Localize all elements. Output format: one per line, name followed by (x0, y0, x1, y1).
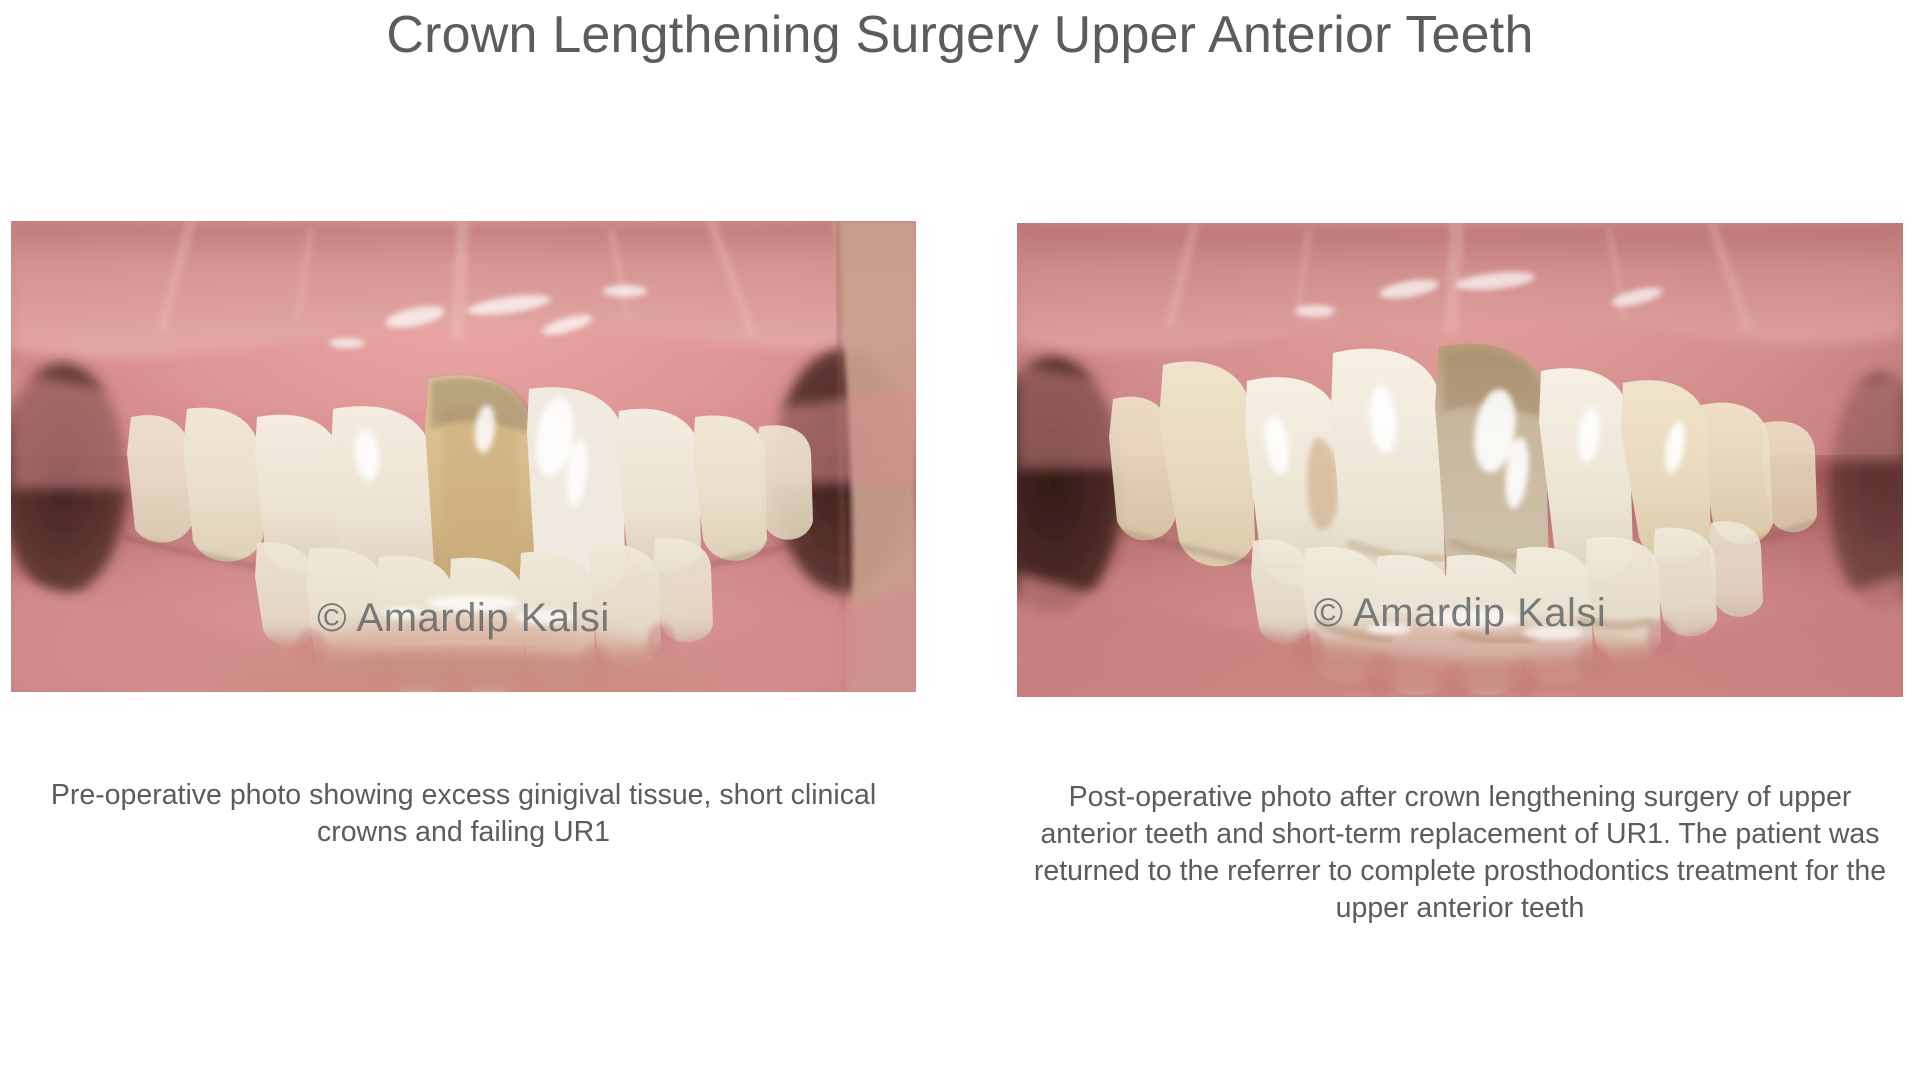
post-operative-photo-graphic (1017, 223, 1903, 697)
photo-pre-operative: © Amardip Kalsi (11, 221, 916, 692)
caption-post-operative: Post-operative photo after crown lengthe… (1017, 697, 1903, 927)
photo-post-operative: © Amardip Kalsi (1017, 223, 1903, 697)
caption-pre-operative: Pre-operative photo showing excess ginig… (11, 692, 916, 851)
figure-pre-operative: © Amardip Kalsi Pre-operative photo show… (11, 221, 916, 851)
page-title: Crown Lengthening Surgery Upper Anterior… (0, 6, 1920, 66)
figure-post-operative: © Amardip Kalsi Post-operative photo aft… (1017, 223, 1903, 927)
pre-operative-photo-graphic (11, 221, 916, 692)
